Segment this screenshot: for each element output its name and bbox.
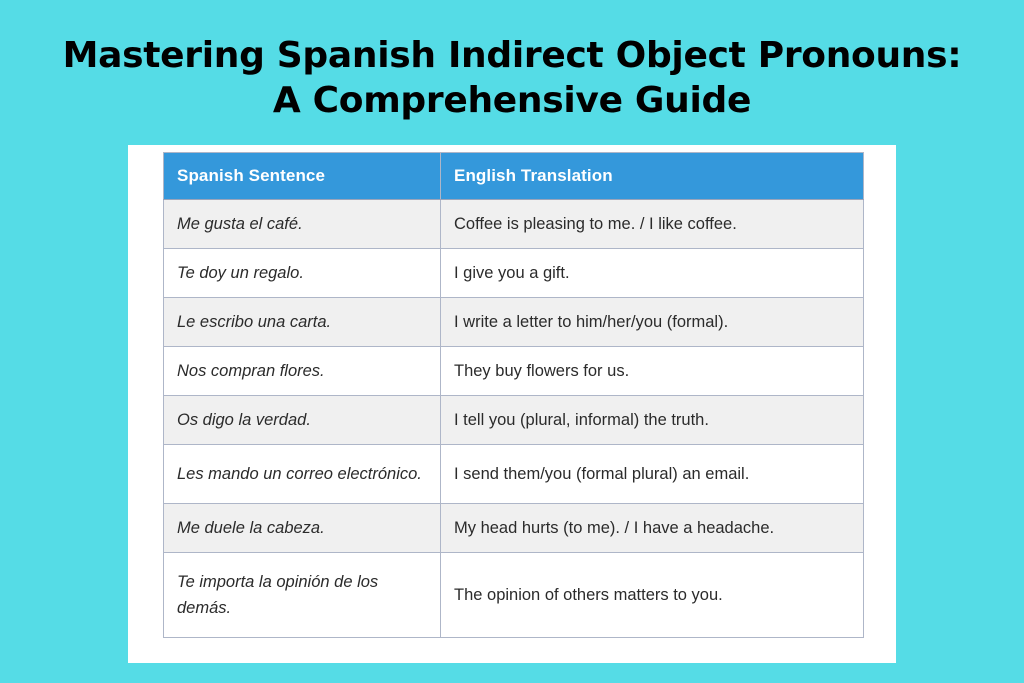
cell-english-translation: I give you a gift. [441,249,864,298]
table-body: Me gusta el café. Coffee is pleasing to … [164,200,864,638]
table-row: Me duele la cabeza. My head hurts (to me… [164,504,864,553]
page-title-line-1: Mastering Spanish Indirect Object Pronou… [0,33,1024,78]
table-row: Os digo la verdad. I tell you (plural, i… [164,396,864,445]
cell-english-translation: I write a letter to him/her/you (formal)… [441,298,864,347]
page-title: Mastering Spanish Indirect Object Pronou… [0,33,1024,123]
cell-spanish-sentence: Les mando un correo electrónico. [164,445,441,504]
cell-spanish-sentence: Me gusta el café. [164,200,441,249]
table-header-row: Spanish Sentence English Translation [164,153,864,200]
table-row: Me gusta el café. Coffee is pleasing to … [164,200,864,249]
table-row: Te importa la opinión de los demás. The … [164,553,864,638]
cell-english-translation: I tell you (plural, informal) the truth. [441,396,864,445]
cell-spanish-sentence: Te importa la opinión de los demás. [164,553,441,638]
cell-spanish-sentence: Os digo la verdad. [164,396,441,445]
table-row: Nos compran flores. They buy flowers for… [164,347,864,396]
page-root: Mastering Spanish Indirect Object Pronou… [0,0,1024,683]
table-card: Spanish Sentence English Translation Me … [128,145,896,663]
cell-english-translation: I send them/you (formal plural) an email… [441,445,864,504]
cell-spanish-sentence: Te doy un regalo. [164,249,441,298]
cell-spanish-sentence: Nos compran flores. [164,347,441,396]
page-title-line-2: A Comprehensive Guide [0,78,1024,123]
column-header-spanish-sentence: Spanish Sentence [164,153,441,200]
table-container: Spanish Sentence English Translation Me … [163,152,863,638]
table-row: Le escribo una carta. I write a letter t… [164,298,864,347]
cell-spanish-sentence: Le escribo una carta. [164,298,441,347]
table-row: Les mando un correo electrónico. I send … [164,445,864,504]
table-header: Spanish Sentence English Translation [164,153,864,200]
pronoun-table: Spanish Sentence English Translation Me … [163,152,864,638]
cell-spanish-sentence: Me duele la cabeza. [164,504,441,553]
table-row: Te doy un regalo. I give you a gift. [164,249,864,298]
cell-english-translation: The opinion of others matters to you. [441,553,864,638]
cell-english-translation: Coffee is pleasing to me. / I like coffe… [441,200,864,249]
column-header-english-translation: English Translation [441,153,864,200]
cell-english-translation: They buy flowers for us. [441,347,864,396]
cell-english-translation: My head hurts (to me). / I have a headac… [441,504,864,553]
